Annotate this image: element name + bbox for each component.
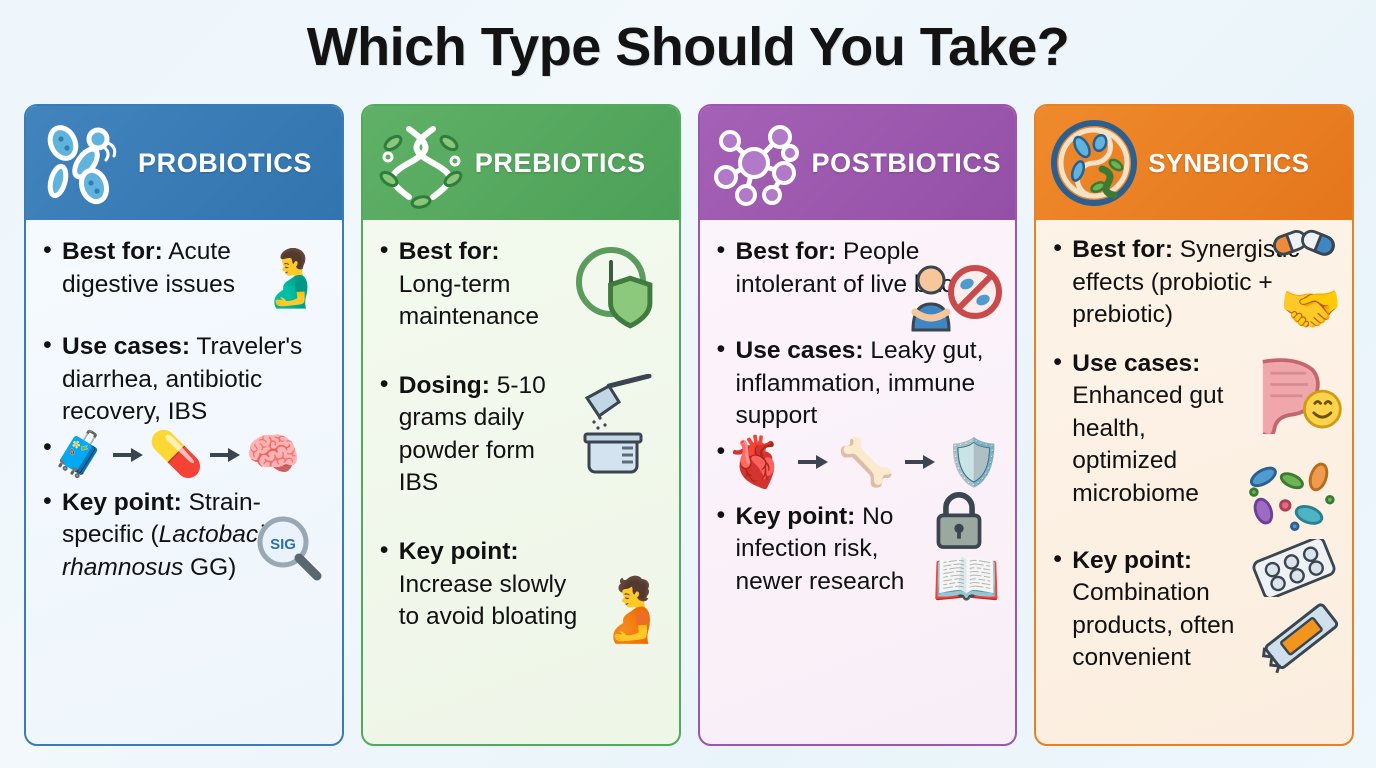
arrow-icon	[210, 451, 240, 459]
card-prebiotics[interactable]: PREBIOTICS Best for: Long-term maintenan…	[361, 104, 681, 746]
bloated-belly-icon: 🫄	[593, 580, 670, 642]
bullet-key-point: Key point: Combination products, often c…	[1048, 545, 1342, 675]
microbiome-icon	[1242, 456, 1338, 538]
blister-pack-icon	[1248, 539, 1340, 603]
bullet-label: Key point:	[1072, 547, 1192, 574]
bullet-dosing: Dosing: 5-10 grams daily powder form IBS	[375, 370, 669, 500]
sachet-tube-icon	[1260, 599, 1344, 681]
fiber-helix-leaves-icon	[373, 117, 469, 209]
card-header-prebiotics: PREBIOTICS	[363, 106, 679, 220]
card-body-postbiotics: Best for: People intolerant of live bact…	[700, 220, 1016, 744]
yin-yang-microbes-icon	[1046, 117, 1142, 209]
bullet-best-for: Best for: Synergistic effects (probiotic…	[1048, 234, 1342, 332]
colon-icon: 🫀	[726, 437, 788, 487]
bullet-label: Use cases:	[62, 333, 190, 360]
bullet-use-cases: Use cases: Leaky gut, inflammation, immu…	[712, 335, 1006, 433]
card-body-probiotics: Best for: Acute digestive issues 🫃 Use c…	[26, 220, 342, 744]
flow-row-wrapper: 🧳 💊 🧠	[38, 433, 332, 477]
luggage-globe-icon: 🧳	[52, 433, 107, 477]
bullet-label: Best for:	[399, 238, 500, 265]
card-title-synbiotics: SYNBIOTICS	[1148, 148, 1309, 179]
bullet-text: Combination products, often convenient	[1072, 579, 1234, 671]
card-postbiotics[interactable]: POSTBIOTICS Best for: People intolerant …	[698, 104, 1018, 746]
bullet-label: Key point:	[736, 503, 856, 530]
card-body-synbiotics: Best for: Synergistic effects (probiotic…	[1036, 220, 1352, 744]
card-title-prebiotics: PREBIOTICS	[475, 148, 646, 179]
bullet-key-point: Key point: Strain-specific (Lactobacillu…	[38, 487, 332, 585]
use-case-flow: 🫀 🦴 🛡️	[726, 437, 1006, 487]
bullet-label: Key point:	[62, 489, 182, 516]
padlock-icon	[931, 489, 987, 557]
card-synbiotics[interactable]: SYNBIOTICS Best for: Synergistic effects…	[1034, 104, 1354, 746]
open-book-icon: 📖	[932, 551, 1002, 607]
bullet-label: Key point:	[399, 538, 519, 565]
stomach-pain-emoji: 🫃	[256, 250, 326, 306]
card-header-postbiotics: POSTBIOTICS	[700, 106, 1016, 220]
arrow-icon	[113, 451, 143, 459]
arrow-icon	[798, 458, 828, 466]
bullet-best-for: Best for: Long-term maintenance	[375, 236, 669, 334]
inflamed-joint-icon: 🦴	[838, 439, 895, 485]
card-probiotics[interactable]: PROBIOTICS Best for: Acute digestive iss…	[24, 104, 344, 746]
bullet-label: Best for:	[1072, 236, 1173, 263]
pill-bottle-icon: 💊	[149, 433, 204, 477]
bullet-text: Enhanced gut health, optimized microbiom…	[1072, 382, 1223, 507]
bullet-use-cases: Use cases: Enhanced gut health, optimize…	[1048, 348, 1342, 511]
bullet-label: Use cases:	[1072, 350, 1200, 377]
use-case-flow: 🧳 💊 🧠	[52, 433, 332, 477]
intestines-icon: 🧠	[246, 433, 301, 477]
card-header-synbiotics: SYNBIOTICS	[1036, 106, 1352, 220]
bullet-label: Best for:	[62, 238, 163, 265]
scoop-measuring-cup-icon	[567, 374, 667, 480]
bullet-text: Increase slowly to avoid bloating	[399, 571, 577, 631]
bullet-use-cases: Use cases: Traveler's diarrhea, antibiot…	[38, 331, 332, 429]
bullet-best-for: Best for: People intolerant of live bact…	[712, 236, 1006, 301]
bullet-label: Dosing:	[399, 372, 490, 399]
card-body-prebiotics: Best for: Long-term maintenance Dosing: …	[363, 220, 679, 744]
page-title: Which Type Should You Take?	[0, 0, 1376, 78]
card-header-probiotics: PROBIOTICS	[26, 106, 342, 220]
card-title-postbiotics: POSTBIOTICS	[812, 148, 1002, 179]
bullet-key-point: Key point: Increase slowly to avoid bloa…	[375, 536, 669, 634]
bacteria-cluster-icon	[36, 117, 132, 209]
bullet-label: Use cases:	[736, 337, 864, 364]
molecule-nodes-icon	[710, 117, 806, 209]
handshake-icon: 🤝	[1280, 284, 1342, 334]
bullet-label: Best for:	[736, 238, 837, 265]
bullet-text-after: GG)	[183, 554, 236, 581]
flow-row-wrapper: 🫀 🦴 🛡️	[712, 437, 1006, 487]
card-title-probiotics: PROBIOTICS	[138, 148, 312, 179]
arrow-icon	[905, 458, 935, 466]
bullet-text: Long-term maintenance	[399, 271, 539, 331]
happy-gut-icon	[1242, 352, 1346, 440]
bullet-key-point: Key point: No infection risk, newer rese…	[712, 501, 1006, 599]
card-grid: PROBIOTICS Best for: Acute digestive iss…	[24, 104, 1354, 746]
immune-shield-icon: 🛡️	[945, 439, 1002, 485]
bullet-best-for: Best for: Acute digestive issues 🫃	[38, 236, 332, 301]
clock-shield-icon	[569, 244, 669, 342]
